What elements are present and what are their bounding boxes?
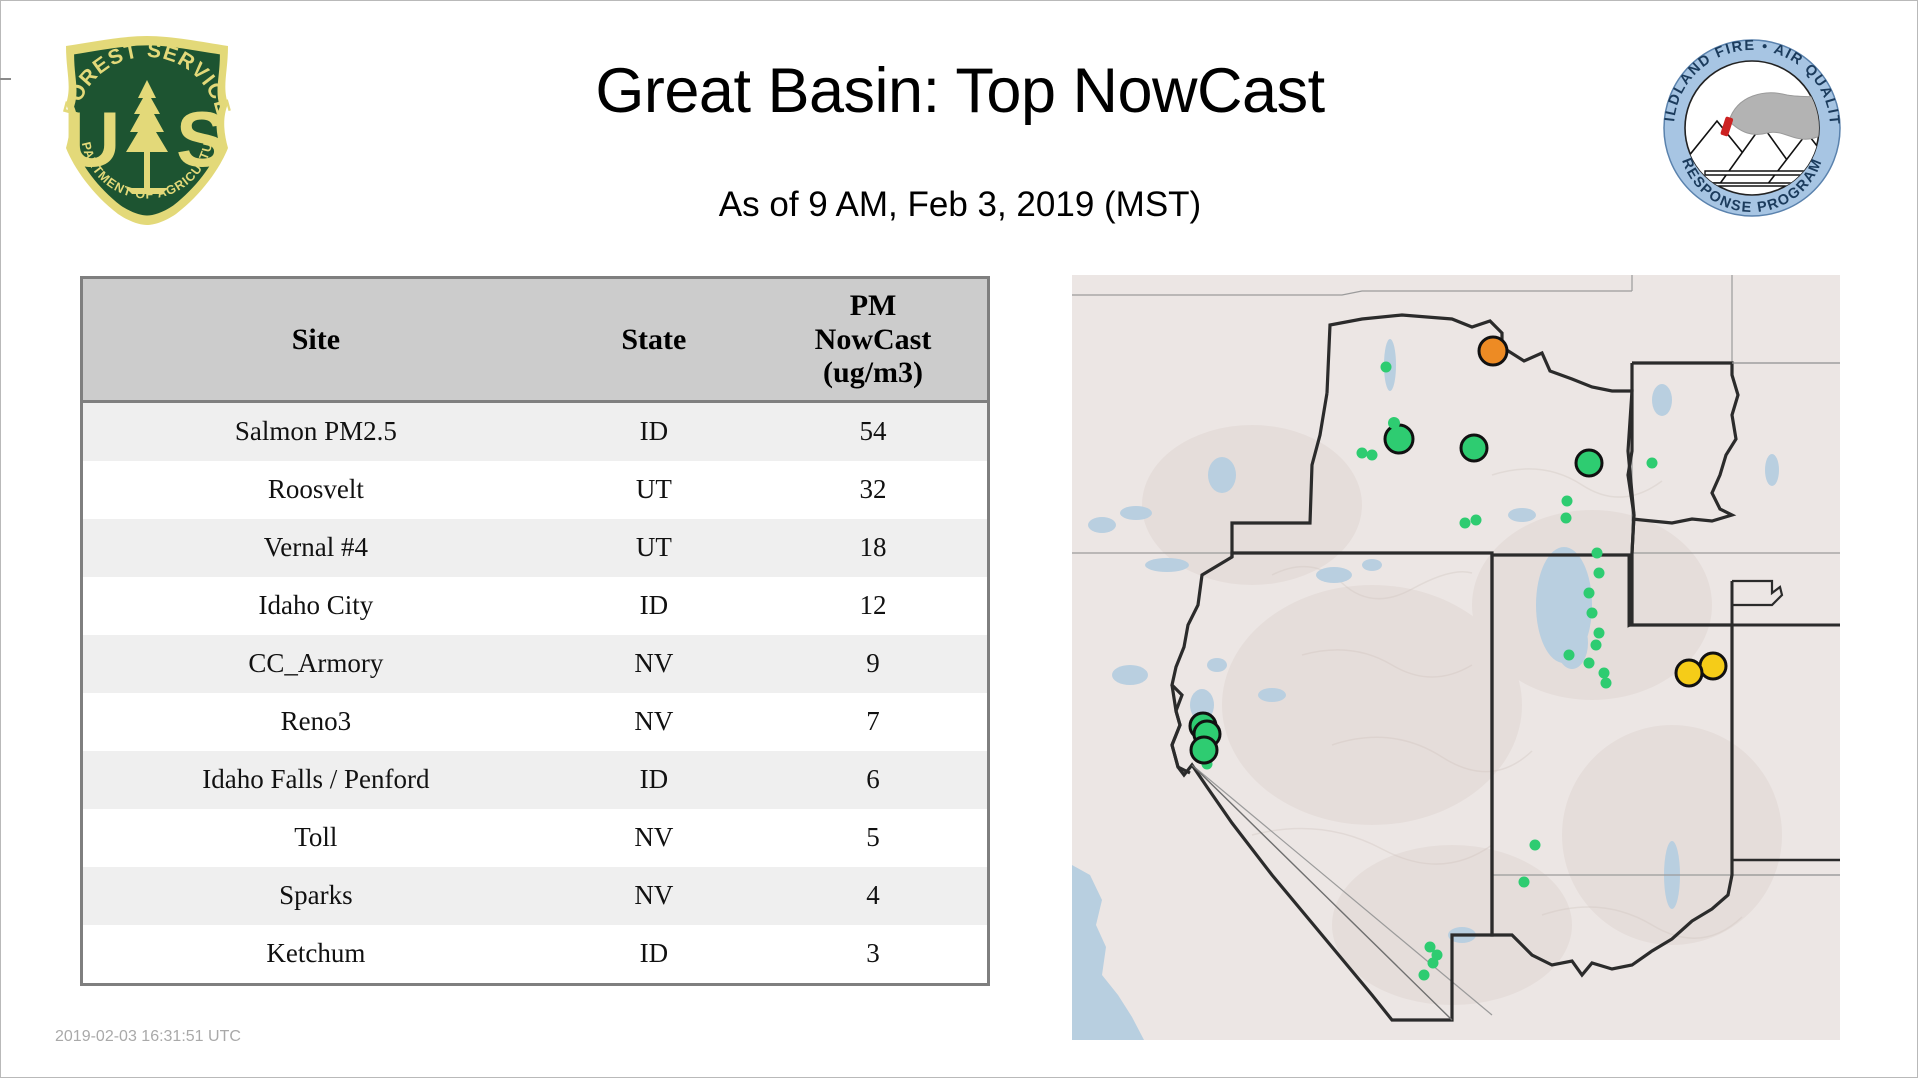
table-cell-state: NV	[549, 809, 759, 867]
table-cell-site: Toll	[83, 809, 549, 867]
table-row[interactable]: Reno3NV7	[83, 693, 987, 751]
column-header-site[interactable]: Site	[83, 279, 549, 401]
monitor-dot[interactable]	[1530, 840, 1541, 851]
table-cell-pm: 54	[759, 401, 987, 461]
monitor-dot[interactable]	[1562, 496, 1573, 507]
table-cell-state: NV	[549, 867, 759, 925]
page-subtitle: As of 9 AM, Feb 3, 2019 (MST)	[300, 185, 1620, 225]
monitor-dot[interactable]	[1419, 970, 1430, 981]
table-row[interactable]: KetchumID3	[83, 925, 987, 983]
monitor-marker[interactable]	[1385, 425, 1413, 453]
monitor-dot[interactable]	[1594, 628, 1605, 639]
table-cell-pm: 12	[759, 577, 987, 635]
generation-timestamp: 2019-02-03 16:31:51 UTC	[55, 1028, 241, 1046]
table-cell-site: Ketchum	[83, 925, 549, 983]
monitor-dot[interactable]	[1599, 668, 1610, 679]
table-row[interactable]: Vernal #4UT18	[83, 519, 987, 577]
monitor-dot[interactable]	[1584, 588, 1595, 599]
table-row[interactable]: Idaho CityID12	[83, 577, 987, 635]
monitor-marker[interactable]	[1191, 737, 1217, 763]
monitor-dot[interactable]	[1647, 458, 1658, 469]
monitor-dot[interactable]	[1460, 518, 1471, 529]
column-header-pm-line1: PM	[763, 289, 983, 323]
monitor-dot[interactable]	[1357, 448, 1368, 459]
monitor-dot[interactable]	[1564, 650, 1575, 661]
table-cell-site: Salmon PM2.5	[83, 401, 549, 461]
table-cell-site: Vernal #4	[83, 519, 549, 577]
monitor-marker[interactable]	[1479, 337, 1507, 365]
table-cell-pm: 9	[759, 635, 987, 693]
table-row[interactable]: RoosveltUT32	[83, 461, 987, 519]
table-cell-site: Idaho City	[83, 577, 549, 635]
table-cell-state: ID	[549, 401, 759, 461]
table-cell-site: Idaho Falls / Penford	[83, 751, 549, 809]
monitor-dot[interactable]	[1519, 877, 1530, 888]
table-cell-state: ID	[549, 577, 759, 635]
table-cell-pm: 18	[759, 519, 987, 577]
column-header-pm-line3: (ug/m3)	[763, 356, 983, 390]
monitor-dot[interactable]	[1471, 515, 1482, 526]
table-cell-state: UT	[549, 461, 759, 519]
table-row[interactable]: TollNV5	[83, 809, 987, 867]
page-title: Great Basin: Top NowCast	[300, 58, 1620, 124]
table-cell-state: UT	[549, 519, 759, 577]
table-cell-site: Roosvelt	[83, 461, 549, 519]
table-body: Salmon PM2.5ID54RoosveltUT32Vernal #4UT1…	[83, 401, 987, 983]
table-row[interactable]: CC_ArmoryNV9	[83, 635, 987, 693]
usda-forest-service-logo: FOREST SERVICE DEPARTMENT OF AGRICULTURE…	[52, 32, 242, 228]
nowcast-table: Site State PM NowCast (ug/m3) Salmon PM2…	[83, 279, 987, 983]
table-row[interactable]: SparksNV4	[83, 867, 987, 925]
table-row[interactable]: Salmon PM2.5ID54	[83, 401, 987, 461]
table-cell-pm: 3	[759, 925, 987, 983]
monitor-marker[interactable]	[1576, 450, 1602, 476]
shield-letter-s: S	[176, 95, 228, 183]
table-cell-state: NV	[549, 635, 759, 693]
monitor-dot[interactable]	[1561, 513, 1572, 524]
monitor-marker[interactable]	[1676, 660, 1702, 686]
table-cell-pm: 32	[759, 461, 987, 519]
table-cell-pm: 4	[759, 867, 987, 925]
monitor-dot[interactable]	[1587, 608, 1598, 619]
monitor-marker[interactable]	[1700, 653, 1726, 679]
monitor-marker[interactable]	[1461, 435, 1487, 461]
table-cell-state: ID	[549, 925, 759, 983]
column-header-state[interactable]: State	[549, 279, 759, 401]
shield-letter-u: U	[64, 95, 120, 183]
monitor-marker[interactable]	[1388, 417, 1400, 429]
monitor-dot[interactable]	[1428, 958, 1439, 969]
table-cell-pm: 7	[759, 693, 987, 751]
monitor-dot[interactable]	[1381, 362, 1392, 373]
table-cell-state: ID	[549, 751, 759, 809]
table-header-row: Site State PM NowCast (ug/m3)	[83, 279, 987, 401]
table-cell-pm: 5	[759, 809, 987, 867]
monitor-dot[interactable]	[1592, 548, 1603, 559]
table-cell-site: CC_Armory	[83, 635, 549, 693]
column-header-pm-nowcast[interactable]: PM NowCast (ug/m3)	[759, 279, 987, 401]
table-cell-site: Sparks	[83, 867, 549, 925]
monitor-dot[interactable]	[1601, 678, 1612, 689]
wfaqrp-logo: WILDLAND FIRE • AIR QUALITY RESPONSE PRO…	[1657, 33, 1847, 223]
table-row[interactable]: Idaho Falls / PenfordID6	[83, 751, 987, 809]
table-head: Site State PM NowCast (ug/m3)	[83, 279, 987, 401]
table-cell-site: Reno3	[83, 693, 549, 751]
table-cell-state: NV	[549, 693, 759, 751]
column-header-pm-line2: NowCast	[763, 323, 983, 357]
page-edge-tick	[0, 78, 11, 80]
monitor-dot[interactable]	[1591, 640, 1602, 651]
table-cell-pm: 6	[759, 751, 987, 809]
monitor-dot[interactable]	[1594, 568, 1605, 579]
monitor-map[interactable]	[1072, 275, 1840, 1040]
nowcast-table-container: Site State PM NowCast (ug/m3) Salmon PM2…	[80, 276, 990, 986]
monitor-dot[interactable]	[1367, 450, 1378, 461]
monitor-dot[interactable]	[1584, 658, 1595, 669]
